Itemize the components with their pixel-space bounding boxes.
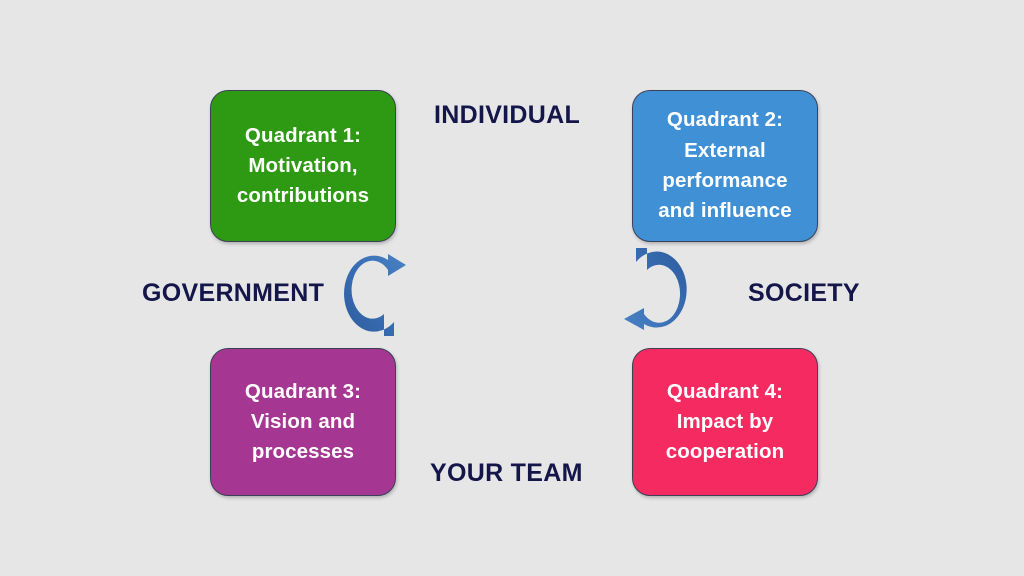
quadrant-4-box[interactable]: Quadrant 4: Impact by cooperation	[632, 348, 818, 496]
axis-label-your-team: YOUR TEAM	[430, 459, 583, 488]
axis-label-society: SOCIETY	[748, 279, 860, 308]
quadrant-1-box[interactable]: Quadrant 1: Motivation, contributions	[210, 90, 396, 242]
quadrant-2-box[interactable]: Quadrant 2: External performance and inf…	[632, 90, 818, 242]
curved-arrow-up-icon	[344, 244, 408, 340]
axis-label-individual: INDIVIDUAL	[434, 101, 580, 130]
diagram-canvas: Quadrant 1: Motivation, contributions Qu…	[0, 0, 1024, 576]
axis-label-government: GOVERNMENT	[142, 279, 324, 308]
quadrant-3-box[interactable]: Quadrant 3: Vision and processes	[210, 348, 396, 496]
curved-arrow-down-icon	[620, 244, 688, 340]
